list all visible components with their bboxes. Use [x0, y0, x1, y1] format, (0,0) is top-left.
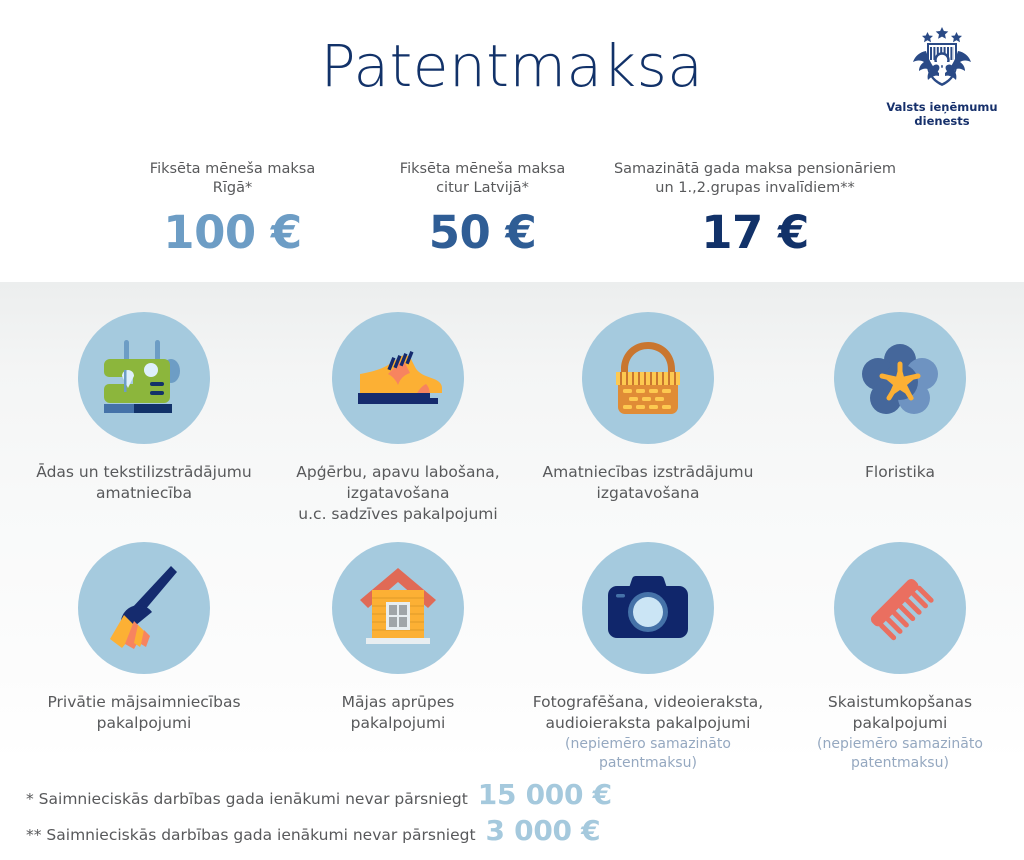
service-item-floristry: Floristika	[772, 312, 1024, 484]
service-item-handicraft-making: Amatniecības izstrādājumuizgatavošana	[520, 312, 776, 505]
service-label: Floristika	[772, 462, 1024, 483]
price-caption: Fiksēta mēneša maksa citur Latvijā*	[345, 160, 620, 198]
service-item-household-services: Privātie mājsaimniecībaspakalpojumi	[16, 542, 272, 735]
organization-logo: Valsts ieņēmumu dienests	[878, 24, 1006, 128]
price-caption-line2: un 1.,2.grupas invalīdiem**	[655, 180, 854, 196]
service-note: (nepiemēro samazinātopatentmaksu)	[520, 735, 776, 773]
price-caption-line1: Samazinātā gada maksa pensionāriem	[614, 161, 896, 177]
service-label: Apģērbu, apavu labošana,izgatavošanau.c.…	[270, 462, 526, 525]
service-label: Fotografēšana, videoieraksta,audioieraks…	[520, 692, 776, 734]
price-amount: 100 €	[95, 206, 370, 259]
service-item-beauty-services: Skaistumkopšanaspakalpojumi (nepiemēro s…	[772, 542, 1024, 773]
price-card-riga: Fiksēta mēneša maksa Rīgā* 100 €	[95, 160, 370, 259]
comb-icon	[834, 542, 966, 674]
service-item-photo-video-audio: Fotografēšana, videoieraksta,audioieraks…	[520, 542, 776, 773]
service-label: Amatniecības izstrādājumuizgatavošana	[520, 462, 776, 504]
icon-bubble	[78, 312, 210, 444]
footnote-row: * Saimnieciskās darbības gada ienākumi n…	[26, 778, 726, 814]
price-caption-line1: Fiksēta mēneša maksa	[400, 161, 565, 177]
service-item-clothing-shoe-repair: Apģērbu, apavu labošana,izgatavošanau.c.…	[270, 312, 526, 526]
broom-icon	[78, 542, 210, 674]
footnotes-block: * Saimnieciskās darbības gada ienākumi n…	[26, 778, 726, 850]
latvia-coat-of-arms-icon	[899, 24, 985, 96]
price-card-elsewhere-latvia: Fiksēta mēneša maksa citur Latvijā* 50 €	[345, 160, 620, 259]
footnote-value: 15 000 €	[478, 778, 612, 811]
footnote-value: 3 000 €	[486, 814, 601, 847]
footnote-text: * Saimnieciskās darbības gada ienākumi n…	[26, 790, 468, 808]
service-note: (nepiemēro samazinātopatentmaksu)	[772, 735, 1024, 773]
price-summary-row: Fiksēta mēneša maksa Rīgā* 100 € Fiksēta…	[0, 160, 1024, 270]
price-caption-line2: citur Latvijā*	[436, 180, 529, 196]
icon-bubble	[834, 312, 966, 444]
price-amount: 17 €	[590, 206, 920, 259]
camera-icon	[582, 542, 714, 674]
organization-name-line1: Valsts ieņēmumu	[886, 100, 997, 114]
service-label: Ādas un tekstilizstrādājumuamatniecība	[16, 462, 272, 504]
price-caption: Samazinātā gada maksa pensionāriem un 1.…	[590, 160, 920, 198]
footnote-text: ** Saimnieciskās darbības gada ienākumi …	[26, 826, 476, 844]
service-item-leather-textile: Ādas un tekstilizstrādājumuamatniecība	[16, 312, 272, 505]
organization-name: Valsts ieņēmumu dienests	[878, 100, 1006, 128]
icon-bubble	[78, 542, 210, 674]
house-icon	[332, 542, 464, 674]
wicker-basket-icon	[582, 312, 714, 444]
price-caption-line1: Fiksēta mēneša maksa	[150, 161, 315, 177]
price-amount: 50 €	[345, 206, 620, 259]
sewing-machine-icon	[78, 312, 210, 444]
footnote-row: ** Saimnieciskās darbības gada ienākumi …	[26, 814, 726, 850]
service-label: Skaistumkopšanaspakalpojumi	[772, 692, 1024, 734]
shoe-icon	[332, 312, 464, 444]
organization-name-line2: dienests	[914, 114, 969, 128]
icon-bubble	[582, 312, 714, 444]
service-label: Mājas aprūpespakalpojumi	[270, 692, 526, 734]
icon-bubble	[332, 542, 464, 674]
page-title: Patentmaksa	[0, 32, 1024, 100]
icon-bubble	[332, 312, 464, 444]
price-caption: Fiksēta mēneša maksa Rīgā*	[95, 160, 370, 198]
icon-bubble	[834, 542, 966, 674]
icon-bubble	[582, 542, 714, 674]
service-label: Privātie mājsaimniecībaspakalpojumi	[16, 692, 272, 734]
service-item-home-care: Mājas aprūpespakalpojumi	[270, 542, 526, 735]
flower-icon	[834, 312, 966, 444]
price-caption-line2: Rīgā*	[213, 180, 252, 196]
price-card-reduced-annual: Samazinātā gada maksa pensionāriem un 1.…	[590, 160, 920, 259]
infographic-page: Patentmaksa	[0, 0, 1024, 860]
